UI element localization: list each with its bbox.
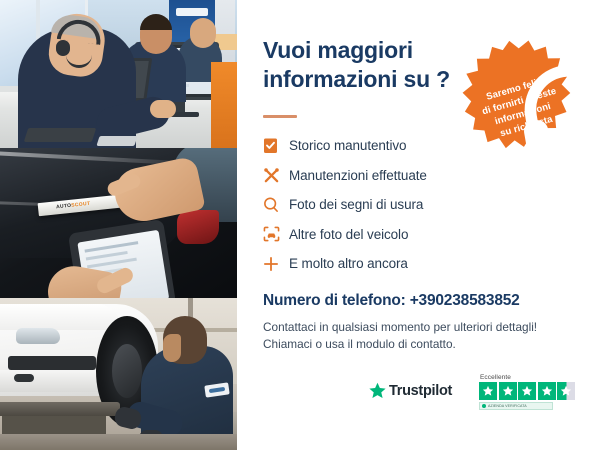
- verified-badge: AZIENDA VERIFICATA: [479, 402, 553, 410]
- contact-subtext-line1: Contattaci in qualsiasi momento per ulte…: [263, 320, 537, 334]
- star-icon: [518, 382, 536, 400]
- content-panel: Vuoi maggiori informazioni su ? Saremo f…: [237, 0, 600, 450]
- phone-number-line: Numero di telefono: +390238583852: [263, 292, 520, 310]
- list-item: Storico manutentivo: [263, 131, 563, 161]
- rating-label: Eccellente: [480, 374, 581, 381]
- star-rating: [479, 382, 581, 400]
- photo-vehicle-inspection-strip: AUTOSCOUT: [0, 148, 237, 298]
- verified-label: AZIENDA VERIFICATA: [488, 404, 527, 408]
- trustpilot-rating: Eccellente AZIENDA VERIFICATA: [479, 374, 581, 410]
- photo-call-center-agents: [0, 0, 237, 148]
- trustpilot-star-icon: [369, 382, 386, 399]
- page-title: Vuoi maggiori informazioni su ?: [263, 36, 478, 95]
- feature-label: Manutenzioni effettuate: [289, 168, 427, 183]
- star-icon: [499, 382, 517, 400]
- feature-label: Altre foto del veicolo: [289, 227, 408, 242]
- list-item: Foto dei segni di usura: [263, 190, 563, 220]
- trustpilot-widget[interactable]: Trustpilot Eccellente AZIENDA VERIFICATA: [369, 374, 581, 412]
- plus-icon: [263, 254, 289, 274]
- photo-mechanic-wheel-check: [0, 298, 237, 450]
- trustpilot-logo: Trustpilot: [369, 382, 452, 399]
- photo-column: AUTOSCOUT: [0, 0, 237, 450]
- star-icon-half: [557, 382, 575, 400]
- title-divider: [263, 115, 297, 118]
- checklist-icon: [263, 136, 289, 156]
- tools-cross-icon: [263, 165, 289, 185]
- contact-subtext-line2: Chiamaci o usa il modulo di contatto.: [263, 337, 456, 351]
- feature-label: Foto dei segni di usura: [289, 197, 423, 212]
- star-icon: [479, 382, 497, 400]
- magnifier-icon: [263, 195, 289, 215]
- feature-list: Storico manutentivo Manutenzioni effettu…: [263, 131, 563, 279]
- list-item: Altre foto del veicolo: [263, 220, 563, 250]
- headset-icon: [502, 59, 527, 83]
- promo-card: AUTOSCOUT Vuoi maggiori informazioni su …: [0, 0, 600, 450]
- scan-car-icon: [263, 224, 289, 244]
- trustpilot-name: Trustpilot: [389, 383, 452, 399]
- strip-brand: AUTOSCOUT: [56, 201, 91, 211]
- feature-label: E molto altro ancora: [289, 256, 408, 271]
- star-icon: [538, 382, 556, 400]
- list-item: Manutenzioni effettuate: [263, 161, 563, 191]
- feature-label: Storico manutentivo: [289, 138, 406, 153]
- verified-dot-icon: [482, 404, 486, 408]
- list-item: E molto altro ancora: [263, 249, 563, 279]
